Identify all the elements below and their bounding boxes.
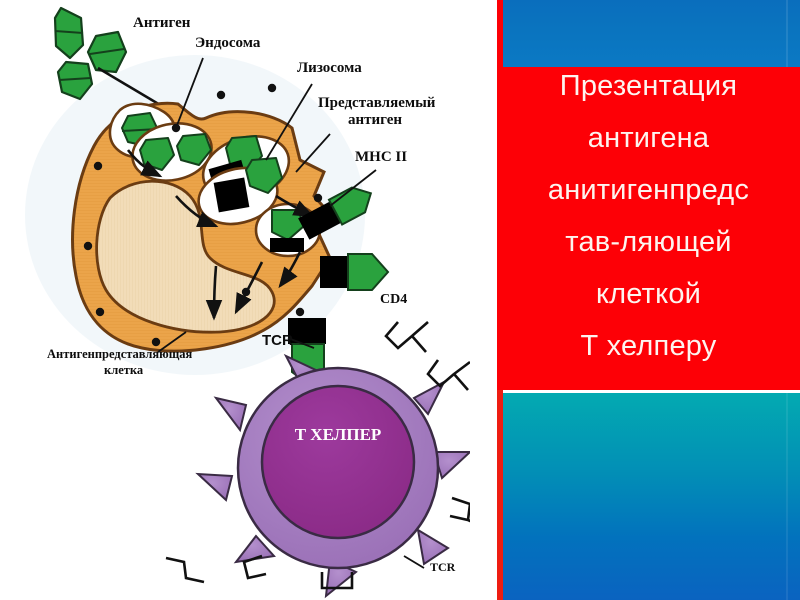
title-line-2: антигена	[497, 112, 800, 164]
panel-seam	[786, 0, 788, 67]
mhc-molecule	[320, 256, 348, 288]
antigen-icon	[55, 8, 83, 58]
label-antigen: Антиген	[133, 15, 191, 31]
label-apc-line1: Антигенпредставляющая	[47, 347, 193, 361]
blue-panel-top	[503, 0, 800, 67]
title-line-1: Презентация	[497, 60, 800, 112]
title-line-5: клеткой	[497, 268, 800, 320]
mhc-molecule	[270, 238, 304, 252]
label-presented-antigen-line1: Представляемый	[318, 95, 436, 111]
label-mhc2: МНС II	[355, 149, 407, 165]
title-line-3: анитигенпредс	[497, 164, 800, 216]
title-line-4: тав-ляющей	[497, 216, 800, 268]
mhc-molecule	[214, 177, 250, 212]
panel-seam	[786, 393, 788, 600]
label-t-helper: Т ХЕЛПЕР	[295, 425, 382, 444]
label-tcr-bottom: TCR	[430, 560, 456, 574]
label-presented-antigen-line2: антиген	[348, 112, 402, 128]
white-gutter	[470, 0, 497, 600]
label-endosome: Эндосома	[195, 35, 261, 51]
blue-panel-bottom	[503, 393, 800, 600]
label-cd4: CD4	[380, 292, 407, 307]
presented-antigen	[348, 254, 388, 290]
label-lysosome: Лизосома	[297, 60, 362, 76]
label-apc-line2: клетка	[104, 363, 144, 377]
diagram-canvas: Антиген Эндосома Лизосома Представляемый…	[0, 0, 500, 600]
label-tcr-top: TCR	[262, 332, 293, 349]
antigen-icon	[88, 32, 126, 72]
antigen-presentation-diagram: Антиген Эндосома Лизосома Представляемый…	[0, 0, 500, 600]
title-line-6: Т хелперу	[497, 320, 800, 372]
presentation-slide: Антиген Эндосома Лизосома Представляемый…	[0, 0, 800, 600]
slide-title: Презентация антигена анитигенпредс тав-л…	[497, 60, 800, 405]
